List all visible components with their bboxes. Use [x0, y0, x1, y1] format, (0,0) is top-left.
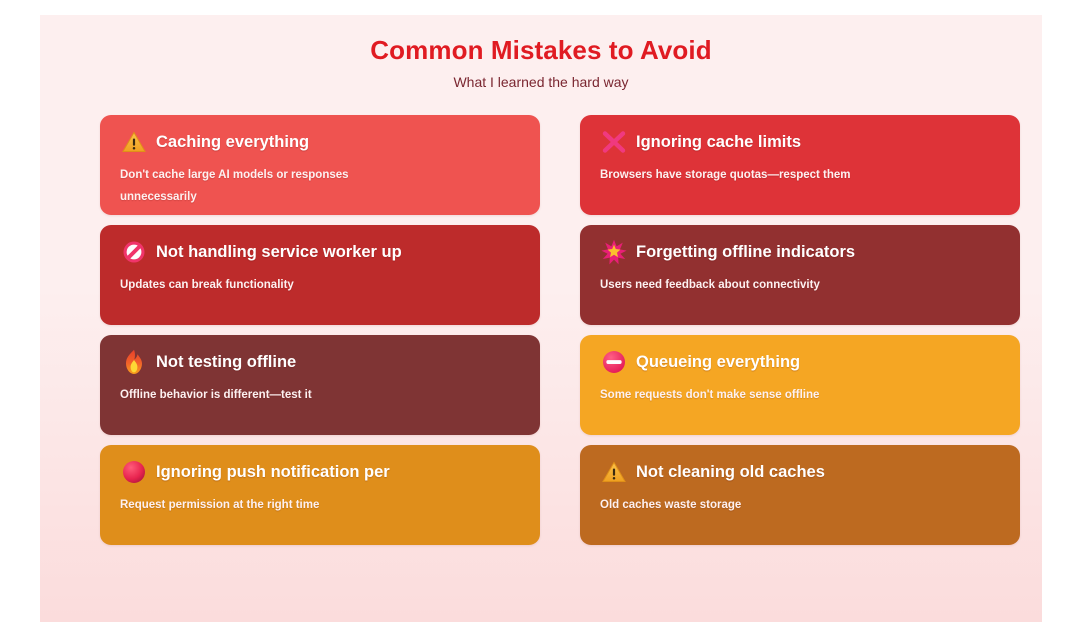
mistake-card[interactable]: Not handling service worker upUpdates ca… — [100, 225, 540, 325]
card-header: Not testing offline — [120, 349, 522, 375]
card-description: Some requests don't make sense offline — [600, 384, 868, 406]
card-header: Ignoring push notification per — [120, 459, 522, 485]
mistake-card[interactable]: Queueing everythingSome requests don't m… — [580, 335, 1020, 435]
no-entry-icon — [600, 349, 628, 375]
card-header: Forgetting offline indicators — [600, 239, 1002, 265]
card-title: Ignoring push notification per — [156, 461, 390, 483]
warning-triangle-icon — [600, 459, 628, 485]
card-header: Ignoring cache limits — [600, 129, 1002, 155]
card-description: Don't cache large AI models or responses… — [120, 164, 388, 208]
fire-icon — [120, 349, 148, 375]
card-title: Not testing offline — [156, 351, 296, 373]
card-description: Old caches waste storage — [600, 494, 868, 516]
card-description: Users need feedback about connectivity — [600, 274, 868, 296]
mistake-card[interactable]: Not testing offlineOffline behavior is d… — [100, 335, 540, 435]
red-circle-icon — [120, 459, 148, 485]
card-header: Not handling service worker up — [120, 239, 522, 265]
card-header: Queueing everything — [600, 349, 1002, 375]
warning-triangle-icon — [120, 129, 148, 155]
card-title: Ignoring cache limits — [636, 131, 801, 153]
slide-header: Common Mistakes to Avoid What I learned … — [40, 15, 1042, 92]
card-description: Browsers have storage quotas—respect the… — [600, 164, 868, 186]
mistake-card[interactable]: Forgetting offline indicatorsUsers need … — [580, 225, 1020, 325]
card-title: Not handling service worker up — [156, 241, 402, 263]
mistakes-grid: Caching everythingDon't cache large AI m… — [100, 115, 1020, 545]
card-header: Not cleaning old caches — [600, 459, 1002, 485]
page-subtitle: What I learned the hard way — [40, 73, 1042, 92]
mistake-card[interactable]: Not cleaning old cachesOld caches waste … — [580, 445, 1020, 545]
mistake-card[interactable]: Ignoring push notification perRequest pe… — [100, 445, 540, 545]
page-title: Common Mistakes to Avoid — [40, 33, 1042, 67]
card-description: Offline behavior is different—test it — [120, 384, 388, 406]
collision-icon — [600, 239, 628, 265]
card-title: Caching everything — [156, 131, 309, 153]
card-title: Not cleaning old caches — [636, 461, 825, 483]
card-header: Caching everything — [120, 129, 522, 155]
prohibited-icon — [120, 239, 148, 265]
mistake-card[interactable]: Ignoring cache limitsBrowsers have stora… — [580, 115, 1020, 215]
card-title: Forgetting offline indicators — [636, 241, 855, 263]
card-description: Updates can break functionality — [120, 274, 388, 296]
card-title: Queueing everything — [636, 351, 800, 373]
cross-mark-icon — [600, 129, 628, 155]
mistake-card[interactable]: Caching everythingDon't cache large AI m… — [100, 115, 540, 215]
card-description: Request permission at the right time — [120, 494, 388, 516]
slide-panel: Common Mistakes to Avoid What I learned … — [40, 15, 1042, 622]
